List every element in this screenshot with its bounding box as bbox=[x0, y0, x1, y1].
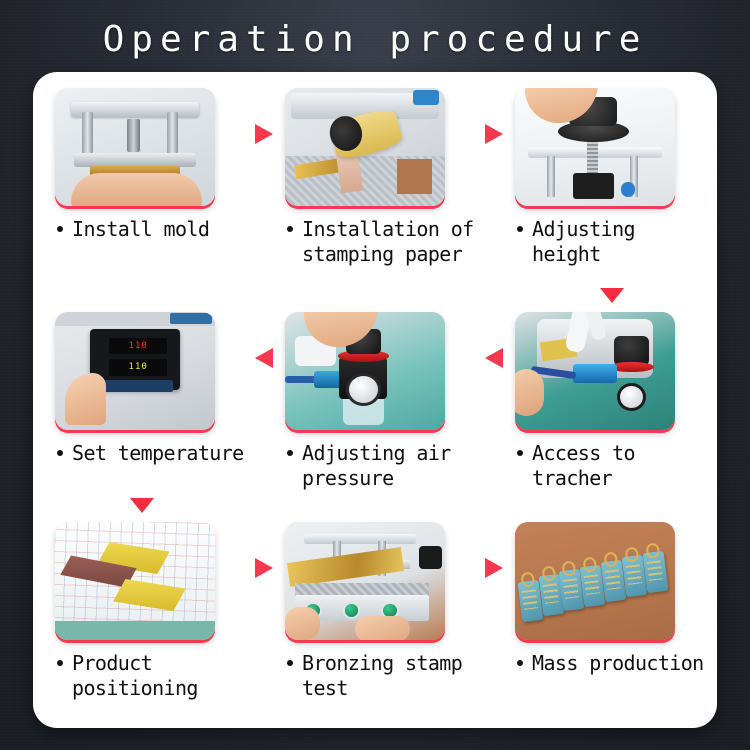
controller-upper-reading: 110 bbox=[109, 338, 167, 355]
arrow-8-to-9-icon bbox=[485, 558, 503, 578]
step-label-set-temperature: Set temperature bbox=[55, 441, 251, 466]
step-label-install-mold: Install mold bbox=[55, 217, 251, 242]
steps-grid: Install mold Installation of stamping pa… bbox=[33, 72, 717, 728]
step-label-adjusting-height: Adjusting height bbox=[515, 217, 711, 267]
controller-lower-reading: 110 bbox=[109, 359, 167, 376]
step-thumbnail-bronzing-stamp-test[interactable] bbox=[285, 522, 445, 640]
step-adjusting-air-pressure[interactable]: Adjusting air pressure bbox=[285, 312, 481, 491]
arrow-2-to-3-icon bbox=[485, 124, 503, 144]
arrow-1-to-2-icon bbox=[255, 124, 273, 144]
step-label-stamping-paper: Installation of stamping paper bbox=[285, 217, 481, 267]
arrow-4-to-7-icon bbox=[130, 498, 154, 513]
step-bronzing-stamp-test[interactable]: Bronzing stamp test bbox=[285, 522, 481, 701]
arrow-3-to-6-icon bbox=[600, 288, 624, 303]
air-regulator-with-gauge-photo bbox=[285, 312, 445, 430]
step-label-product-positioning: Product positioning bbox=[55, 651, 251, 701]
step-label-access-to-tracher: Access to tracher bbox=[515, 441, 711, 491]
step-label-mass-production: Mass production bbox=[515, 651, 711, 676]
yellow-blanks-on-cutting-mat-photo bbox=[55, 522, 215, 640]
hand-turning-height-knob-photo bbox=[515, 88, 675, 206]
finished-blue-gold-keychains-photo bbox=[515, 522, 675, 640]
step-adjusting-height[interactable]: Adjusting height bbox=[515, 88, 711, 267]
step-product-positioning[interactable]: Product positioning bbox=[55, 522, 251, 701]
arrow-5-to-4-icon bbox=[255, 348, 273, 368]
step-access-to-tracher[interactable]: Access to tracher bbox=[515, 312, 711, 491]
step-thumbnail-air-pressure[interactable] bbox=[285, 312, 445, 430]
step-label-bronzing-stamp-test: Bronzing stamp test bbox=[285, 651, 481, 701]
step-label-air-pressure: Adjusting air pressure bbox=[285, 441, 481, 491]
step-thumbnail-adjusting-height[interactable] bbox=[515, 88, 675, 206]
operator-pressing-machine-buttons-photo bbox=[285, 522, 445, 640]
step-mass-production[interactable]: Mass production bbox=[515, 522, 711, 676]
press-mold-in-hand-photo bbox=[55, 88, 215, 206]
foil-roll-on-machine-photo bbox=[285, 88, 445, 206]
step-thumbnail-access-to-tracher[interactable] bbox=[515, 312, 675, 430]
step-set-temperature[interactable]: 110 110 Set temperature bbox=[55, 312, 251, 466]
digital-temperature-controller-photo: 110 110 bbox=[55, 312, 215, 430]
step-thumbnail-set-temperature[interactable]: 110 110 bbox=[55, 312, 215, 430]
step-install-mold[interactable]: Install mold bbox=[55, 88, 251, 242]
step-installation-of-stamping-paper[interactable]: Installation of stamping paper bbox=[285, 88, 481, 267]
step-thumbnail-mass-production[interactable] bbox=[515, 522, 675, 640]
step-thumbnail-install-mold[interactable] bbox=[55, 88, 215, 206]
step-thumbnail-stamping-paper[interactable] bbox=[285, 88, 445, 206]
procedure-card: Install mold Installation of stamping pa… bbox=[33, 72, 717, 728]
page-title: Operation procedure bbox=[0, 19, 750, 60]
step-thumbnail-product-positioning[interactable] bbox=[55, 522, 215, 640]
arrow-7-to-8-icon bbox=[255, 558, 273, 578]
arrow-6-to-5-icon bbox=[485, 348, 503, 368]
air-hose-connector-photo bbox=[515, 312, 675, 430]
